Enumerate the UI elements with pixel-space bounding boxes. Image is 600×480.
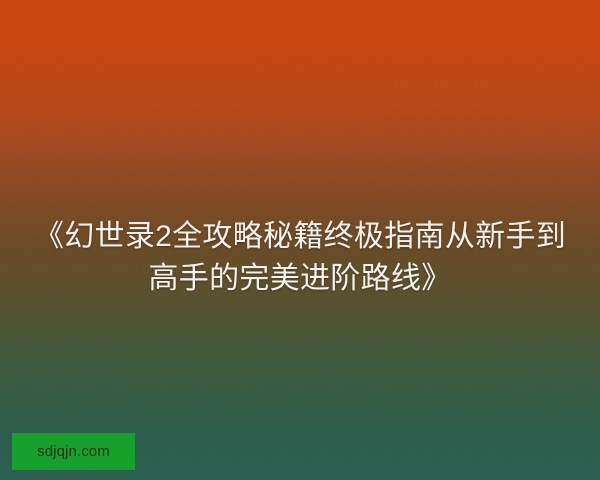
- banner-headline: 《幻世录2全攻略秘籍终极指南从新手到高手的完美进阶路线》: [0, 216, 600, 300]
- watermark-badge: sdjqjn.com: [12, 433, 135, 470]
- promo-banner: 《幻世录2全攻略秘籍终极指南从新手到高手的完美进阶路线》 sdjqjn.com: [0, 0, 600, 480]
- watermark-label: sdjqjn.com: [37, 444, 110, 459]
